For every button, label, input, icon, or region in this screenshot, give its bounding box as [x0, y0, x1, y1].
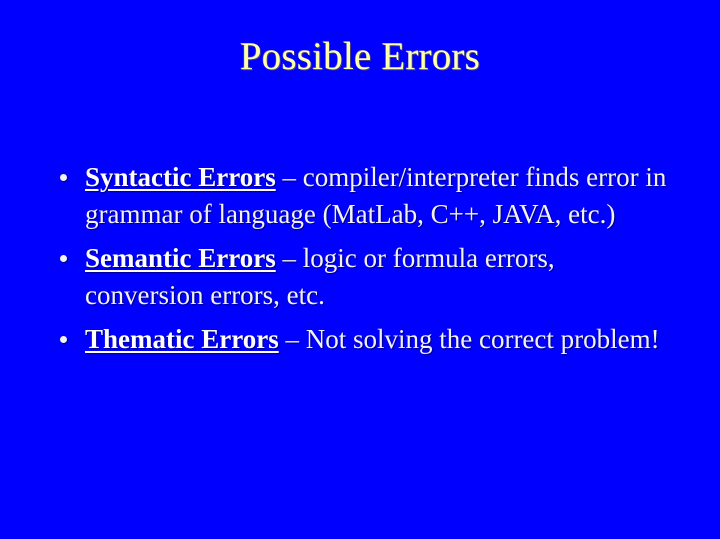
bullet-dot-icon [60, 255, 67, 262]
bullet-dot-icon [60, 336, 67, 343]
bullet-lead-term: Syntactic Errors [85, 162, 276, 192]
bullet-lead-term: Semantic Errors [85, 243, 276, 273]
presentation-slide: Possible Errors Syntactic Errors – compi… [0, 0, 720, 539]
bullet-body-text: – Not solving the correct problem! [279, 324, 660, 354]
bullet-lead-term: Thematic Errors [85, 324, 279, 354]
bullet-list: Syntactic Errors – compiler/interpreter … [52, 159, 672, 358]
page-title: Possible Errors [0, 36, 720, 79]
list-item: Thematic Errors – Not solving the correc… [52, 321, 672, 358]
list-item: Syntactic Errors – compiler/interpreter … [52, 159, 672, 233]
bullet-dot-icon [60, 174, 67, 181]
list-item: Semantic Errors – logic or formula error… [52, 240, 672, 314]
